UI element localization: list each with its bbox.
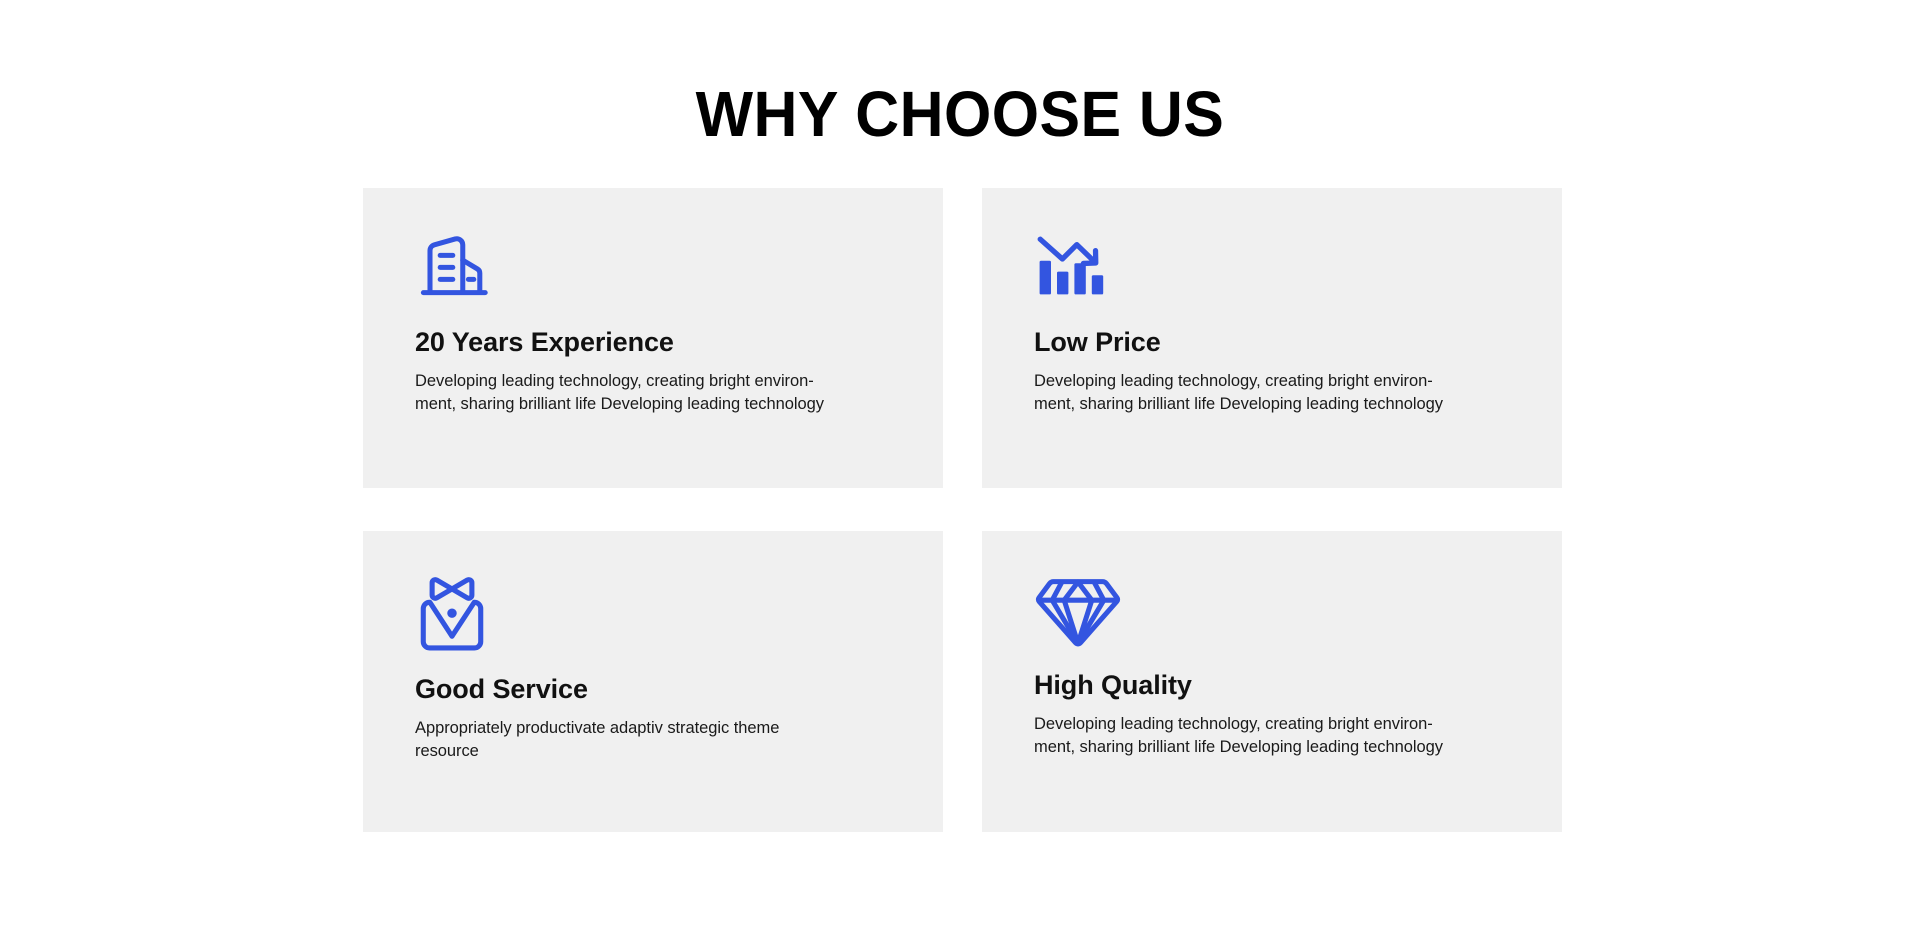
why-choose-us-section: WHY CHOOSE US 20 Years Experience Develo… [0, 0, 1920, 930]
diamond-icon [1034, 575, 1122, 647]
card-title: Good Service [415, 673, 891, 705]
card-description: Appropriately productivate adaptiv strat… [415, 717, 835, 762]
card-description: Developing leading technology, creating … [1034, 370, 1454, 415]
card-title: Low Price [1034, 326, 1510, 358]
card-description: Developing leading technology, creating … [1034, 713, 1454, 758]
feature-card-grid: 20 Years Experience Developing leading t… [363, 188, 1562, 832]
declining-bar-chart-icon [1034, 232, 1110, 304]
card-description: Developing leading technology, creating … [415, 370, 835, 415]
feature-card-experience[interactable]: 20 Years Experience Developing leading t… [363, 188, 943, 488]
page-title: WHY CHOOSE US [48, 78, 1872, 150]
feature-card-high-quality[interactable]: High Quality Developing leading technolo… [982, 531, 1562, 832]
feature-card-low-price[interactable]: Low Price Developing leading technology,… [982, 188, 1562, 488]
building-icon [415, 232, 493, 304]
card-title: 20 Years Experience [415, 326, 891, 358]
card-title: High Quality [1034, 669, 1510, 701]
tuxedo-bowtie-icon [415, 575, 489, 655]
feature-card-good-service[interactable]: Good Service Appropriately productivate … [363, 531, 943, 832]
